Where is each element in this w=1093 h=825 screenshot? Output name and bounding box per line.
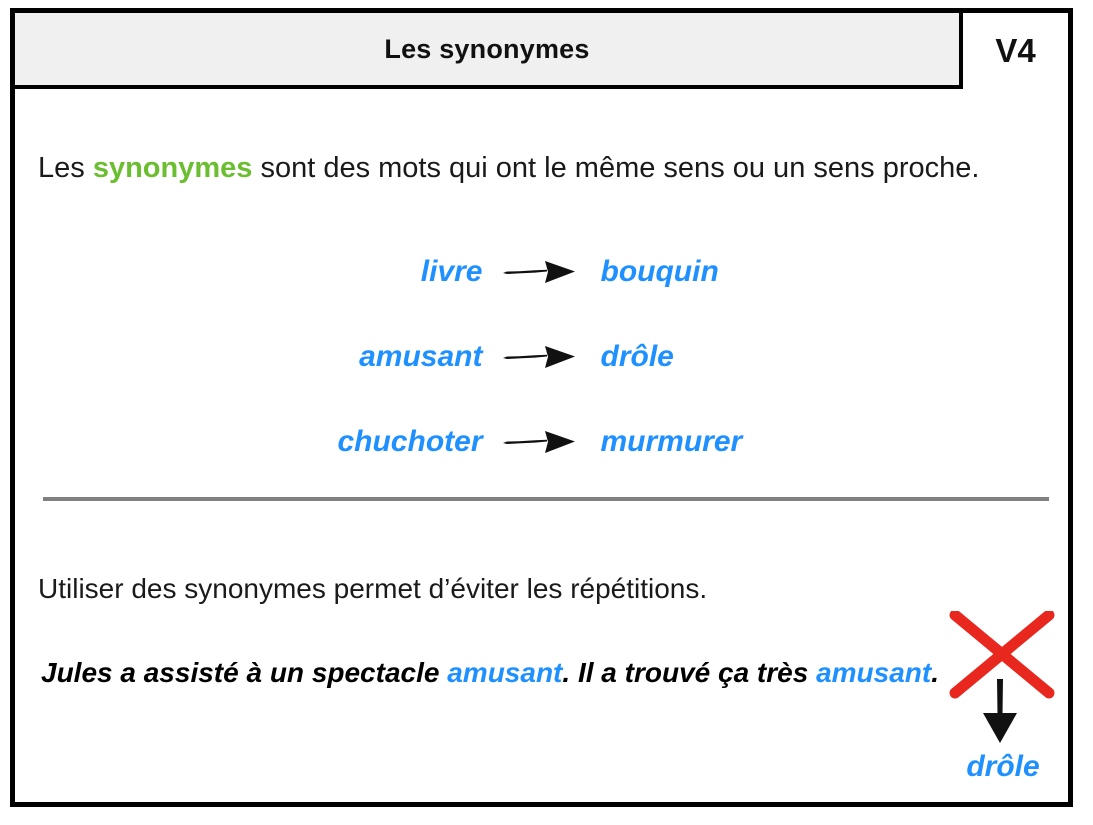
header-bar: Les synonymes V4 <box>15 13 1068 89</box>
right-arrow-icon <box>501 425 579 459</box>
lesson-code: V4 <box>995 32 1035 70</box>
right-arrow-icon <box>501 255 579 289</box>
down-arrow-icon <box>977 677 1023 745</box>
example-sentence: Jules a assisté à un spectacle amusant. … <box>41 657 939 689</box>
right-arrow-icon <box>501 340 579 374</box>
example-synonym-first: amusant <box>447 657 562 688</box>
page-title: Les synonymes <box>384 34 589 65</box>
pair-target-word: drôle <box>579 340 861 374</box>
example-part3: . <box>931 657 939 688</box>
lesson-code-box: V4 <box>963 13 1068 89</box>
pair-target-word: bouquin <box>579 255 861 289</box>
synonym-pair-row: amusant drôle <box>15 314 1068 399</box>
example-synonym-repeated: amusant <box>816 657 931 688</box>
pair-source-word: livre <box>223 255 501 289</box>
definition-before: Les <box>38 152 93 184</box>
pair-source-word: chuchoter <box>223 425 501 459</box>
synonym-pair-list: livre bouquin amusant drôle chuchoter <box>15 229 1068 484</box>
title-box: Les synonymes <box>15 13 963 89</box>
card-body: Les synonymes sont des mots qui ont le m… <box>15 89 1068 802</box>
usage-note: Utiliser des synonymes permet d’éviter l… <box>38 573 707 605</box>
example-part2: . Il a trouvé ça très <box>562 657 816 688</box>
definition-keyword: synonymes <box>93 152 253 184</box>
definition-paragraph: Les synonymes sont des mots qui ont le m… <box>38 148 1038 189</box>
synonym-pair-row: chuchoter murmurer <box>15 399 1068 484</box>
lesson-card: Les synonymes V4 Les synonymes sont des … <box>10 8 1073 807</box>
definition-after: sont des mots qui ont le même sens ou un… <box>252 152 979 184</box>
replacement-word: drôle <box>908 750 1093 784</box>
example-part1: Jules a assisté à un spectacle <box>41 657 447 688</box>
synonym-pair-row: livre bouquin <box>15 229 1068 314</box>
pair-target-word: murmurer <box>579 425 861 459</box>
section-divider <box>43 497 1049 501</box>
pair-source-word: amusant <box>223 340 501 374</box>
